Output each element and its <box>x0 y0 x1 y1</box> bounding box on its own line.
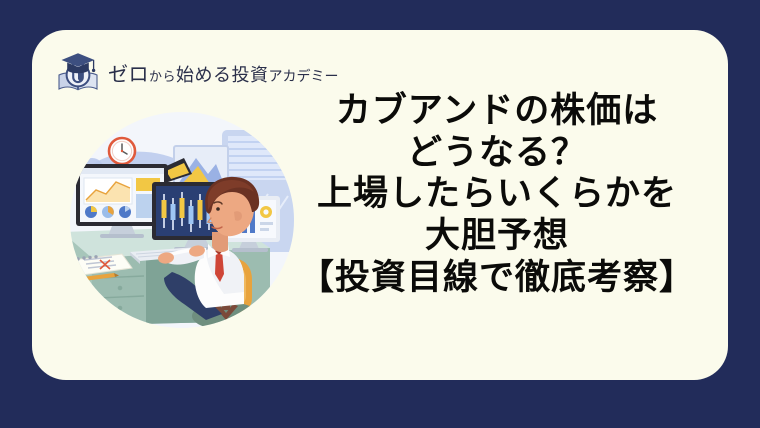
trader-desk-illustration <box>56 108 308 330</box>
title-line-1: カブアンドの株価は <box>282 90 712 132</box>
brand-name-part-1: ゼロ <box>108 58 149 87</box>
title-line-3: 上場したらいくらかを <box>282 173 712 215</box>
brand-name-part-2: から <box>149 66 176 85</box>
content-card: ゼロから始める投資アカデミー <box>32 30 728 380</box>
graduation-cap-book-pen-icon <box>54 48 102 96</box>
brand-name: ゼロから始める投資アカデミー <box>108 58 339 87</box>
page-title: カブアンドの株価は どうなる？ 上場したらいくらかを 大胆予想 【投資目線で徹底… <box>282 90 712 298</box>
brand-name-part-3: 始める <box>176 61 232 87</box>
thumbnail-canvas: ゼロから始める投資アカデミー <box>0 0 760 428</box>
title-line-4: 大胆予想 <box>282 215 712 257</box>
brand-name-part-4: 投資 <box>232 61 269 87</box>
title-line-5: 【投資目線で徹底考察】 <box>282 257 712 299</box>
title-line-2: どうなる？ <box>282 132 712 174</box>
brand-name-part-5: アカデミー <box>269 66 339 86</box>
